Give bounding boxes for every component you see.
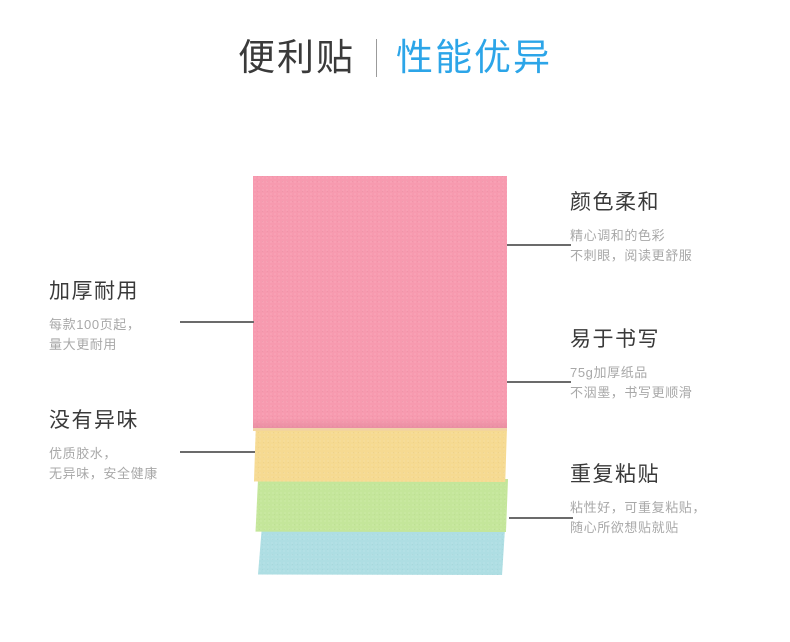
page-title-accent: 性能优异: [396, 39, 552, 76]
feature-no-odor-desc-line1: 优质胶水，: [49, 444, 158, 464]
yellow-note-layer: [254, 427, 507, 482]
feature-repeat-stick: 重复粘贴 粘性好，可重复粘贴， 随心所欲想贴就贴: [570, 464, 706, 538]
feature-soft-color-desc: 精心调和的色彩 不刺眼，阅读更舒服: [570, 226, 692, 266]
connector-line-easy-writing: [507, 381, 571, 383]
connector-line-thick-durable: [180, 321, 254, 323]
feature-no-odor: 没有异味 优质胶水， 无异味，安全健康: [49, 410, 158, 484]
connector-line-no-odor: [180, 451, 255, 453]
feature-soft-color: 颜色柔和 精心调和的色彩 不刺眼，阅读更舒服: [570, 192, 692, 266]
feature-repeat-stick-desc-line1: 粘性好，可重复粘贴，: [570, 498, 706, 518]
feature-thick-durable-desc-line2: 量大更耐用: [49, 335, 141, 355]
feature-soft-color-title: 颜色柔和: [570, 192, 692, 213]
page-header: 便利贴 性能优异: [0, 0, 790, 130]
feature-easy-writing-desc-line2: 不洇墨，书写更顺滑: [570, 383, 692, 403]
feature-thick-durable: 加厚耐用 每款100页起， 量大更耐用: [49, 281, 141, 355]
feature-easy-writing: 易于书写 75g加厚纸品 不洇墨，书写更顺滑: [570, 329, 692, 403]
page-title-main: 便利贴: [238, 39, 355, 76]
feature-no-odor-desc-line2: 无异味，安全健康: [49, 464, 158, 484]
feature-easy-writing-desc-line1: 75g加厚纸品: [570, 363, 692, 383]
note-stack-edge: [253, 424, 507, 431]
feature-easy-writing-desc: 75g加厚纸品 不洇墨，书写更顺滑: [570, 363, 692, 403]
feature-thick-durable-title: 加厚耐用: [49, 281, 141, 302]
feature-no-odor-desc: 优质胶水， 无异味，安全健康: [49, 444, 158, 484]
title-divider: [376, 39, 377, 77]
connector-line-soft-color: [507, 244, 571, 246]
blue-note-layer: [258, 529, 505, 575]
feature-repeat-stick-title: 重复粘贴: [570, 464, 706, 485]
feature-soft-color-desc-line1: 精心调和的色彩: [570, 226, 692, 246]
green-note-layer: [255, 479, 508, 532]
feature-thick-durable-desc-line1: 每款100页起，: [49, 315, 141, 335]
pink-note-layer: [253, 176, 507, 428]
feature-soft-color-desc-line2: 不刺眼，阅读更舒服: [570, 246, 692, 266]
feature-thick-durable-desc: 每款100页起， 量大更耐用: [49, 315, 141, 355]
connector-line-repeat-stick: [509, 517, 573, 519]
feature-repeat-stick-desc-line2: 随心所欲想贴就贴: [570, 518, 706, 538]
feature-easy-writing-title: 易于书写: [570, 329, 692, 350]
pink-note-shadow: [253, 418, 507, 428]
page-title: 便利贴 性能优异: [238, 38, 552, 76]
feature-repeat-stick-desc: 粘性好，可重复粘贴， 随心所欲想贴就贴: [570, 498, 706, 538]
feature-no-odor-title: 没有异味: [49, 410, 158, 431]
